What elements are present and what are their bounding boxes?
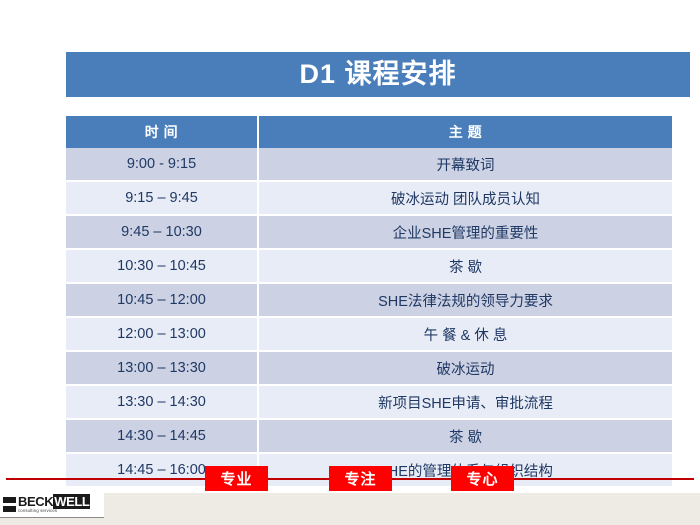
table-row: 9:00 - 9:15开幕致词 (66, 148, 672, 181)
cell-time: 13:30 – 14:30 (66, 385, 258, 419)
cell-time: 9:45 – 10:30 (66, 215, 258, 249)
logo-name: BECKWELL (18, 495, 90, 508)
bottom-strip (0, 493, 700, 525)
column-header-time: 时 间 (66, 116, 258, 148)
cell-time: 9:00 - 9:15 (66, 148, 258, 181)
table-row: 9:15 – 9:45破冰运动 团队成员认知 (66, 181, 672, 215)
logo-name-part2: WELL (53, 494, 90, 509)
table-row: 13:30 – 14:30新项目SHE申请、审批流程 (66, 385, 672, 419)
table-row: 12:00 – 13:00午 餐 & 休 息 (66, 317, 672, 351)
cell-topic: 午 餐 & 休 息 (258, 317, 672, 351)
footer-tag-1: 专业 (205, 466, 268, 491)
cell-topic: 茶 歇 (258, 249, 672, 283)
beckwell-logo: BECKWELL consulting services (0, 491, 104, 518)
cell-time: 14:30 – 14:45 (66, 419, 258, 453)
cell-time: 10:30 – 10:45 (66, 249, 258, 283)
footer-tag-3: 专心 (451, 466, 514, 491)
cell-time: 9:15 – 9:45 (66, 181, 258, 215)
table-row: 10:45 – 12:00SHE法律法规的领导力要求 (66, 283, 672, 317)
logo-tagline: consulting services (18, 509, 90, 513)
cell-time: 12:00 – 13:00 (66, 317, 258, 351)
cell-topic: 开幕致词 (258, 148, 672, 181)
table-row: 14:30 – 14:45茶 歇 (66, 419, 672, 453)
table-row: 9:45 – 10:30企业SHE管理的重要性 (66, 215, 672, 249)
logo-mark-icon (3, 497, 16, 512)
slide-title-bar: D1 课程安排 (66, 52, 690, 97)
cell-topic: 新项目SHE申请、审批流程 (258, 385, 672, 419)
footer-tag-2: 专注 (329, 466, 392, 491)
cell-time: 13:00 – 13:30 (66, 351, 258, 385)
cell-topic: 企业SHE管理的重要性 (258, 215, 672, 249)
cell-topic: 破冰运动 团队成员认知 (258, 181, 672, 215)
agenda-table: 时 间 主 题 9:00 - 9:15开幕致词9:15 – 9:45破冰运动 团… (66, 116, 672, 488)
table-row: 10:30 – 10:45茶 歇 (66, 249, 672, 283)
table-header-row: 时 间 主 题 (66, 116, 672, 148)
cell-topic: 茶 歇 (258, 419, 672, 453)
table-header: 时 间 主 题 (66, 116, 672, 148)
cell-topic: SHE法律法规的领导力要求 (258, 283, 672, 317)
cell-time: 10:45 – 12:00 (66, 283, 258, 317)
logo-wordmark: BECKWELL consulting services (18, 495, 90, 513)
column-header-topic: 主 题 (258, 116, 672, 148)
table-body: 9:00 - 9:15开幕致词9:15 – 9:45破冰运动 团队成员认知9:4… (66, 148, 672, 487)
page-title: D1 课程安排 (299, 61, 456, 88)
logo-name-part1: BECK (18, 494, 53, 509)
cell-topic: 破冰运动 (258, 351, 672, 385)
table-row: 13:00 – 13:30破冰运动 (66, 351, 672, 385)
